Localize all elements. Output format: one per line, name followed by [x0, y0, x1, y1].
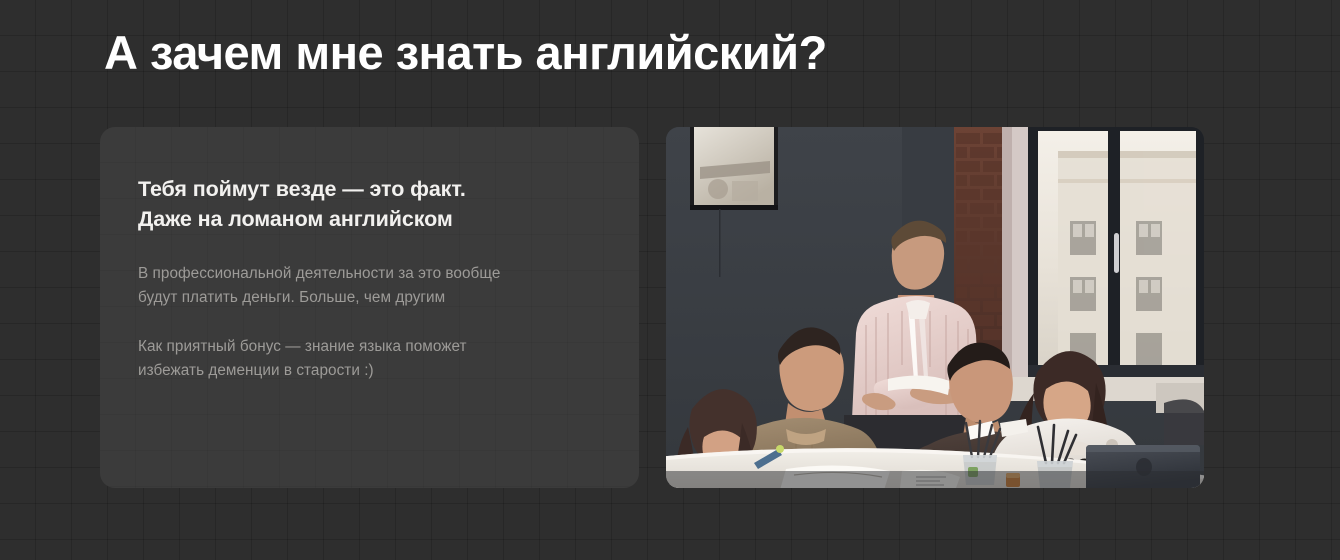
window-wall	[1028, 127, 1204, 383]
team-meeting-illustration: arcasm	[666, 127, 1204, 488]
info-card-paragraph-1-line-1: В профессиональной деятельности за это в…	[138, 262, 599, 286]
info-card-heading-line-1: Тебя поймут везде — это факт.	[138, 175, 599, 205]
info-card-paragraph-2: Как приятный бонус — знание языка поможе…	[138, 335, 599, 383]
info-card-heading: Тебя поймут везде — это факт. Даже на ло…	[138, 175, 599, 234]
info-card-inner: Тебя поймут везде — это факт. Даже на ло…	[100, 127, 639, 423]
framed-artwork	[690, 127, 778, 210]
info-card-paragraph-2-line-1: Как приятный бонус — знание языка поможе…	[138, 335, 599, 359]
info-card-paragraphs: В профессиональной деятельности за это в…	[138, 262, 599, 383]
page-title: А зачем мне знать английский?	[104, 27, 827, 79]
team-meeting-photo: arcasm	[666, 127, 1204, 488]
info-card-paragraph-1: В профессиональной деятельности за это в…	[138, 262, 599, 310]
info-card-paragraph-2-line-2: избежать деменции в старости :)	[138, 359, 599, 383]
info-card-paragraph-1-line-2: будут платить деньги. Больше, чем другим	[138, 286, 599, 310]
info-card-heading-line-2: Даже на ломаном английском	[138, 205, 599, 235]
info-card: Тебя поймут везде — это факт. Даже на ло…	[100, 127, 639, 488]
